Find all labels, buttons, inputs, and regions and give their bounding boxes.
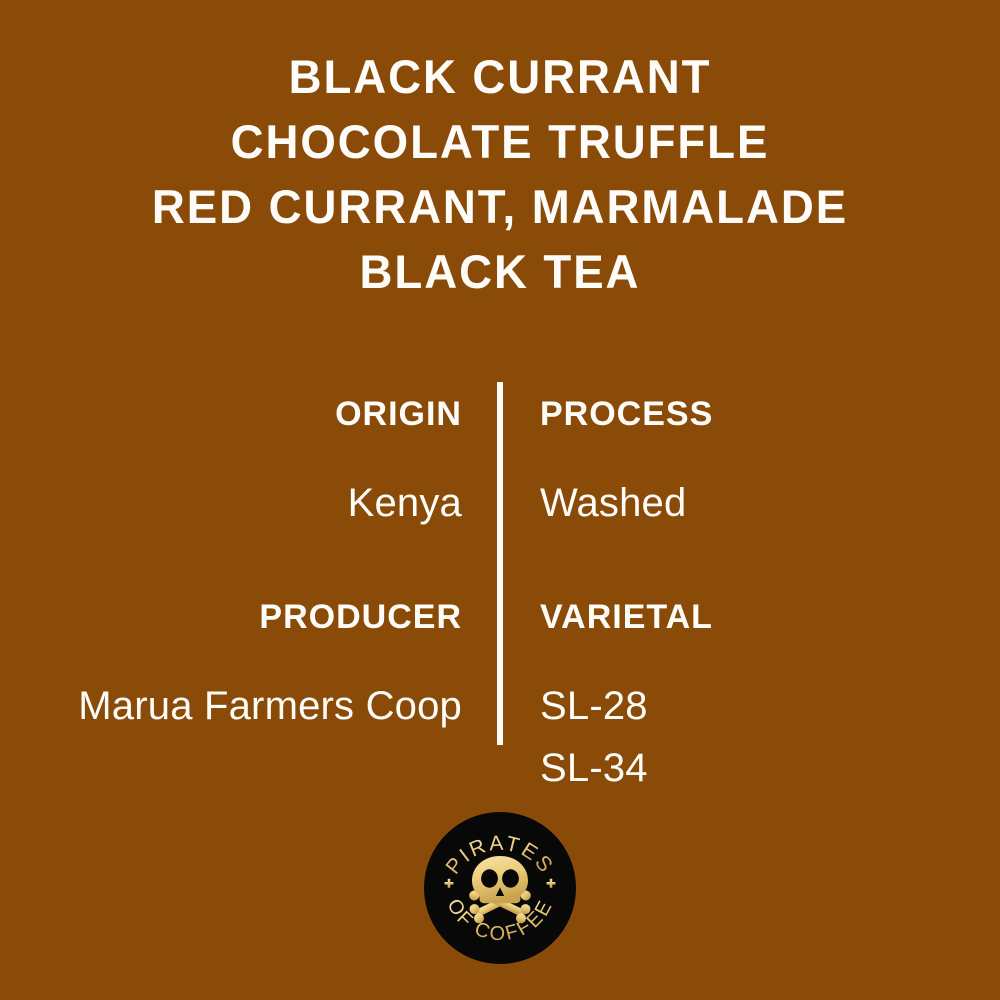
detail-label-process: PROCESS [540,394,960,434]
tasting-note-line-4: BLACK TEA [15,239,985,304]
coffee-label-card: BLACK CURRANT CHOCOLATE TRUFFLE RED CURR… [0,0,1000,1000]
detail-value-producer: Marua Farmers Coop [42,675,462,737]
detail-process: PROCESS Washed [540,394,960,534]
detail-producer: PRODUCER Marua Farmers Coop [42,597,462,737]
detail-varietal: VARIETAL SL-28 SL-34 [540,597,960,799]
detail-label-origin: ORIGIN [42,394,462,434]
varietal-value-1: SL-28 [540,675,960,737]
badge-artwork: PIRATES OF COFFEE [424,812,576,964]
varietal-value-2: SL-34 [540,737,960,799]
detail-value-process: Washed [540,472,960,534]
cross-ornament-left [445,879,454,888]
column-divider [497,382,503,745]
detail-label-producer: PRODUCER [42,597,462,637]
tasting-note-line-3: RED CURRANT, MARMALADE [15,174,985,239]
detail-grid: ORIGIN Kenya PRODUCER Marua Farmers Coop… [0,382,1000,782]
detail-origin: ORIGIN Kenya [42,394,462,534]
detail-value-varietal: SL-28 SL-34 [540,675,960,799]
cross-ornament-right [547,879,556,888]
tasting-notes: BLACK CURRANT CHOCOLATE TRUFFLE RED CURR… [0,44,1000,304]
detail-label-varietal: VARIETAL [540,597,960,637]
tasting-note-line-1: BLACK CURRANT [15,44,985,109]
skull-and-crossbones-icon [468,856,533,925]
tasting-note-line-2: CHOCOLATE TRUFFLE [15,109,985,174]
pirates-of-coffee-logo: PIRATES OF COFFEE [424,812,576,964]
detail-value-origin: Kenya [42,472,462,534]
